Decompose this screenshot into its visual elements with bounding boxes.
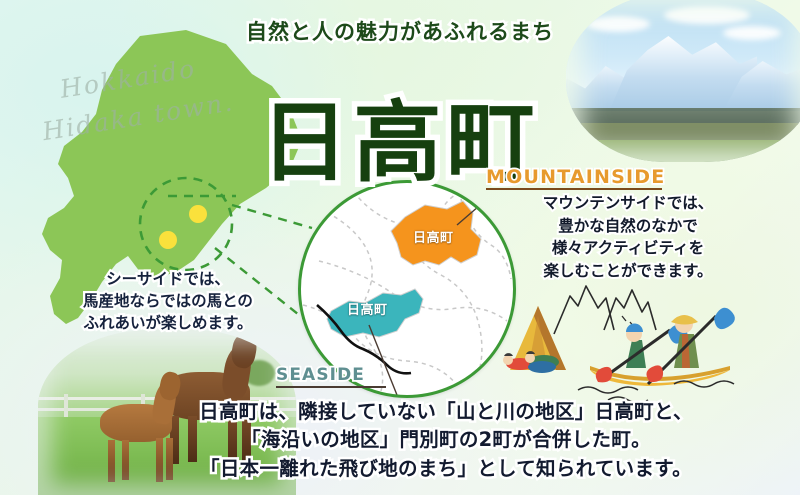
poster-root: 日高町 日高町 (0, 0, 800, 495)
mountainside-description: マウンテンサイドでは、 豊かな自然のなかで 様々アクティビティを 楽しむことがで… (506, 192, 750, 283)
seaside-line-2: 馬産地ならではの馬との (34, 290, 302, 312)
seaside-region-label: 日高町 (347, 299, 388, 318)
mountainside-line-2: 豊かな自然のなかで (506, 215, 750, 238)
mountainside-line-1: マウンテンサイドでは、 (506, 192, 750, 215)
footer-description: 日高町は、隣接していない「山と川の地区」日高町と、 「海沿いの地区」門別町の2町… (96, 398, 796, 483)
outdoor-activity-illustration (498, 272, 798, 404)
seaside-description: シーサイドでは、 馬産地ならではの馬との ふれあいが楽しめます。 (34, 268, 302, 334)
mountainside-region-label: 日高町 (413, 227, 454, 246)
seaside-heading: SEASIDE (276, 365, 365, 385)
mountainside-line-3: 様々アクティビティを (506, 237, 750, 260)
footer-line-1: 日高町は、隣接していない「山と川の地区」日高町と、 (96, 398, 796, 426)
seaside-heading-rule (276, 386, 386, 388)
seaside-line-3: ふれあいが楽しめます。 (34, 312, 302, 334)
footer-line-3: 「日本一離れた飛び地のまち」として知られています。 (96, 455, 796, 483)
page-title: 日高町 (0, 97, 800, 189)
mountainside-heading-rule (486, 188, 662, 190)
mountainside-line-4: 楽しむことができます。 (506, 260, 750, 283)
footer-line-2: 「海沿いの地区」門別町の2町が合併した町。 (96, 426, 796, 454)
mountainside-heading: MOUNTAINSIDE (486, 166, 666, 188)
seaside-line-1: シーサイドでは、 (34, 268, 302, 290)
poster-subtitle: 自然と人の魅力があふれるまち (0, 16, 800, 46)
